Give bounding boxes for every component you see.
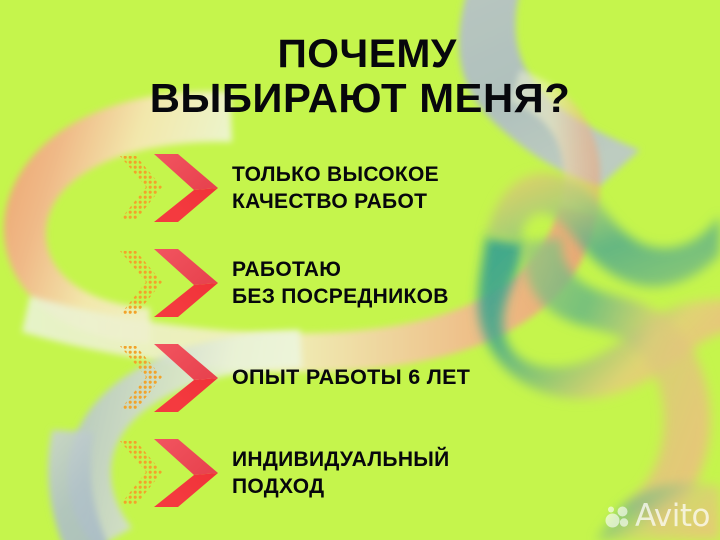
feature-item: ТОЛЬКО ВЫСОКОЕ КАЧЕСТВО РАБОТ bbox=[0, 140, 720, 235]
chevron-upper bbox=[154, 344, 218, 380]
chevron-upper bbox=[154, 154, 218, 190]
feature-list: ТОЛЬКО ВЫСОКОЕ КАЧЕСТВО РАБОТ Р bbox=[0, 140, 720, 520]
chevron-lower bbox=[154, 283, 218, 317]
double-chevron-right-icon bbox=[118, 340, 222, 416]
avito-watermark: Avito bbox=[605, 501, 710, 532]
chevron-lower bbox=[154, 378, 218, 412]
feature-label: ТОЛЬКО ВЫСОКОЕ КАЧЕСТВО РАБОТ bbox=[232, 161, 439, 215]
title-line-1: ПОЧЕМУ bbox=[0, 32, 720, 76]
feature-item: ОПЫТ РАБОТЫ 6 ЛЕТ bbox=[0, 330, 720, 425]
avito-wordmark: Avito bbox=[635, 501, 710, 532]
avito-dots-logo-icon bbox=[605, 504, 631, 530]
chevron-arrow-graphic bbox=[118, 150, 222, 226]
chevron-arrow-graphic bbox=[118, 435, 222, 511]
feature-label: РАБОТАЮ БЕЗ ПОСРЕДНИКОВ bbox=[232, 256, 449, 310]
double-chevron-right-icon bbox=[118, 245, 222, 321]
chevron-arrow-graphic bbox=[118, 340, 222, 416]
chevron-lower bbox=[154, 473, 218, 507]
poster-title: ПОЧЕМУ ВЫБИРАЮТ МЕНЯ? bbox=[0, 32, 720, 120]
double-chevron-right-icon bbox=[118, 150, 222, 226]
chevron-arrow-graphic bbox=[118, 245, 222, 321]
chevron-upper bbox=[154, 249, 218, 285]
feature-label: ОПЫТ РАБОТЫ 6 ЛЕТ bbox=[232, 364, 470, 391]
chevron-lower bbox=[154, 188, 218, 222]
poster-canvas: ПОЧЕМУ ВЫБИРАЮТ МЕНЯ? bbox=[0, 0, 720, 540]
title-line-2: ВЫБИРАЮТ МЕНЯ? bbox=[0, 76, 720, 120]
chevron-upper bbox=[154, 439, 218, 475]
feature-item: РАБОТАЮ БЕЗ ПОСРЕДНИКОВ bbox=[0, 235, 720, 330]
feature-label: ИНДИВИДУАЛЬНЫЙ ПОДХОД bbox=[232, 446, 450, 500]
double-chevron-right-icon bbox=[118, 435, 222, 511]
